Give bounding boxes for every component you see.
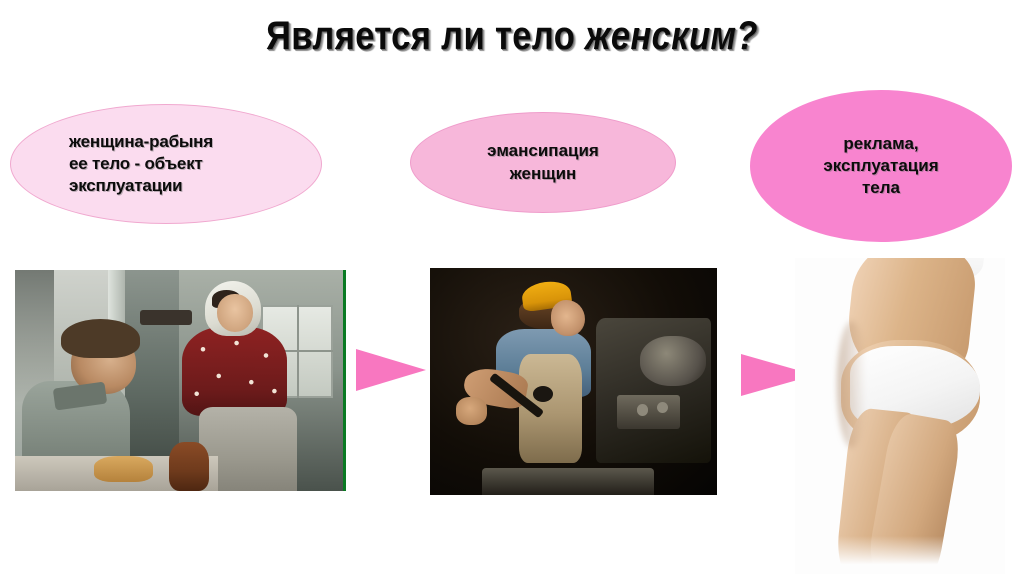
concept-ellipse-woman-slave-label: женщина-рабыня ее тело - объект эксплуат… bbox=[63, 131, 219, 197]
concept-ellipse-advertising-label: реклама, эксплуатация тела bbox=[817, 133, 944, 199]
photo2-worker-hand bbox=[456, 397, 488, 424]
concept-ellipse-advertising: реклама, эксплуатация тела bbox=[750, 90, 1012, 242]
photo1-woman-polka-dot-blouse bbox=[182, 327, 287, 415]
photo2-bolt-2 bbox=[637, 404, 648, 415]
photo2-workbench bbox=[482, 468, 654, 495]
photo-woman-factory-worker bbox=[430, 268, 717, 495]
photo1-bread bbox=[94, 456, 153, 483]
photo1-window-bar-vertical bbox=[297, 305, 299, 398]
arrow-right-icon-1 bbox=[356, 349, 426, 391]
photo-female-body-advertising bbox=[795, 258, 1005, 574]
page-title: Является ли тело женским? bbox=[72, 14, 953, 59]
photo-soviet-film-still bbox=[15, 270, 346, 491]
photo3-bottom-fade bbox=[795, 536, 1005, 574]
concept-ellipse-woman-slave: женщина-рабыня ее тело - объект эксплуат… bbox=[10, 104, 322, 224]
concept-ellipse-emancipation-label: эмансипация женщин bbox=[481, 140, 605, 184]
photo1-woman-face bbox=[217, 294, 253, 332]
presentation-slide: Является ли тело женским? женщина-рабыня… bbox=[0, 0, 1024, 574]
title-main-text: Является ли тело bbox=[266, 14, 585, 58]
concept-ellipse-emancipation: эмансипация женщин bbox=[410, 112, 676, 213]
photo1-clay-jug bbox=[169, 442, 208, 491]
photo3-right-fade bbox=[984, 258, 1005, 574]
photo3-body-shadow bbox=[837, 321, 866, 447]
photo2-metal-block bbox=[617, 395, 680, 429]
title-italic-text: женским? bbox=[585, 14, 758, 58]
photo2-worker-face bbox=[551, 300, 585, 336]
photo2-lathe-chuck bbox=[640, 336, 706, 386]
photo1-man-hair bbox=[61, 319, 140, 359]
photo1-wall-shelf bbox=[140, 310, 192, 325]
